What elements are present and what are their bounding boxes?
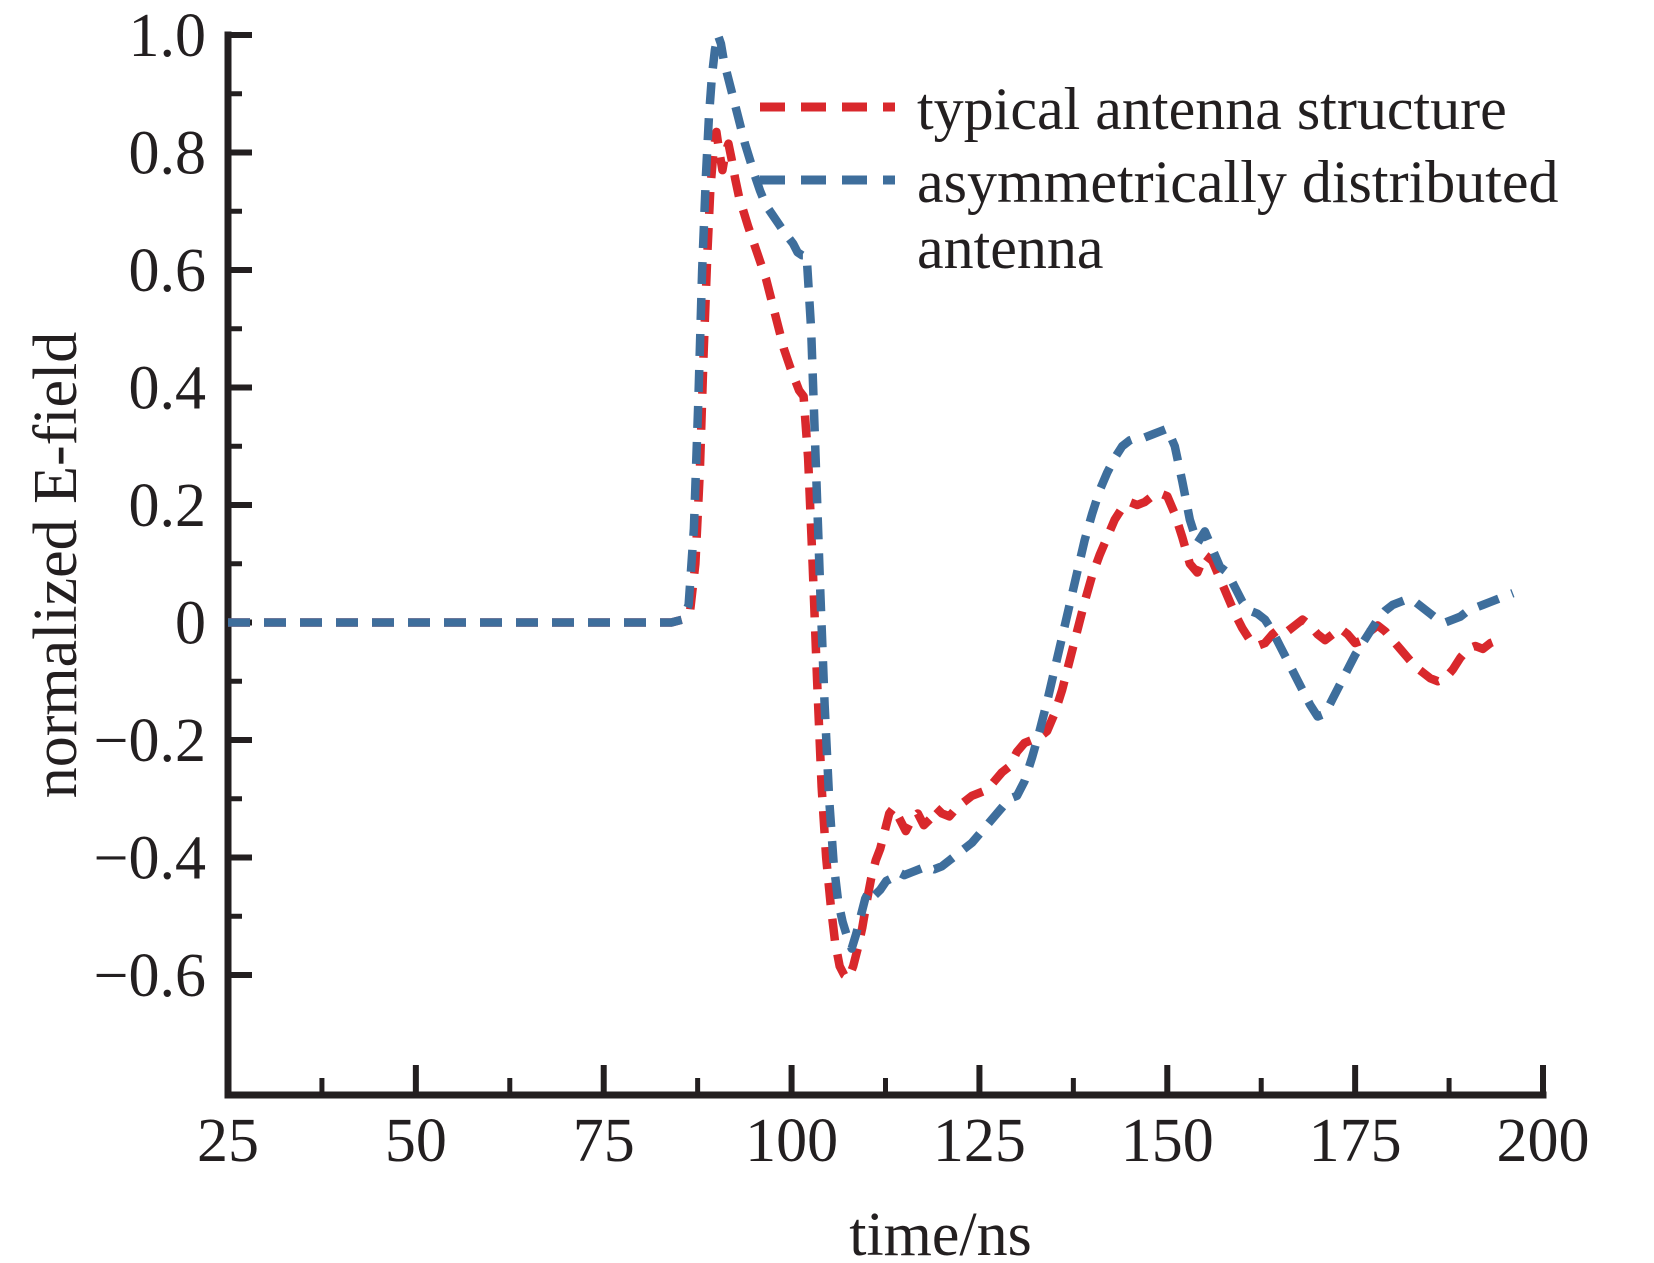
y-axis-title: normalized E-field [22, 332, 90, 799]
series-line-typical [228, 132, 1498, 978]
y-tick-label: 0.8 [129, 120, 207, 188]
x-axis-title: time/ns [849, 1201, 1032, 1263]
y-tick-label: 0.4 [129, 355, 207, 423]
plot-svg: typical antenna structureasymmetrically … [0, 0, 1654, 1263]
y-tick-label: 0 [175, 590, 206, 658]
y-tick-label: −0.4 [94, 825, 206, 893]
legend-group: typical antenna structureasymmetrically … [760, 76, 1559, 281]
legend-item-typical[interactable]: typical antenna structure [760, 76, 1507, 142]
y-tick-label: −0.2 [94, 707, 206, 775]
y-tick-label: −0.6 [94, 942, 206, 1010]
x-tick-label: 25 [197, 1107, 259, 1175]
legend-label: antenna [917, 215, 1104, 281]
legend-label: asymmetrically distributed [917, 149, 1559, 215]
x-tick-label: 125 [933, 1107, 1026, 1175]
x-tick-label: 100 [745, 1107, 838, 1175]
y-tick-label: 0.2 [129, 472, 207, 540]
x-tick-label: 150 [1121, 1107, 1214, 1175]
x-tick-label: 175 [1309, 1107, 1402, 1175]
legend-item-asymmetric[interactable]: asymmetrically distributedantenna [760, 149, 1559, 281]
x-tick-label: 75 [573, 1107, 635, 1175]
chart-figure: typical antenna structureasymmetrically … [0, 0, 1654, 1263]
legend-label: typical antenna structure [917, 76, 1507, 142]
x-tick-label: 50 [385, 1107, 447, 1175]
y-tick-label: 0.6 [129, 237, 207, 305]
y-tick-label: 1.0 [129, 2, 207, 70]
x-tick-label: 200 [1497, 1107, 1590, 1175]
